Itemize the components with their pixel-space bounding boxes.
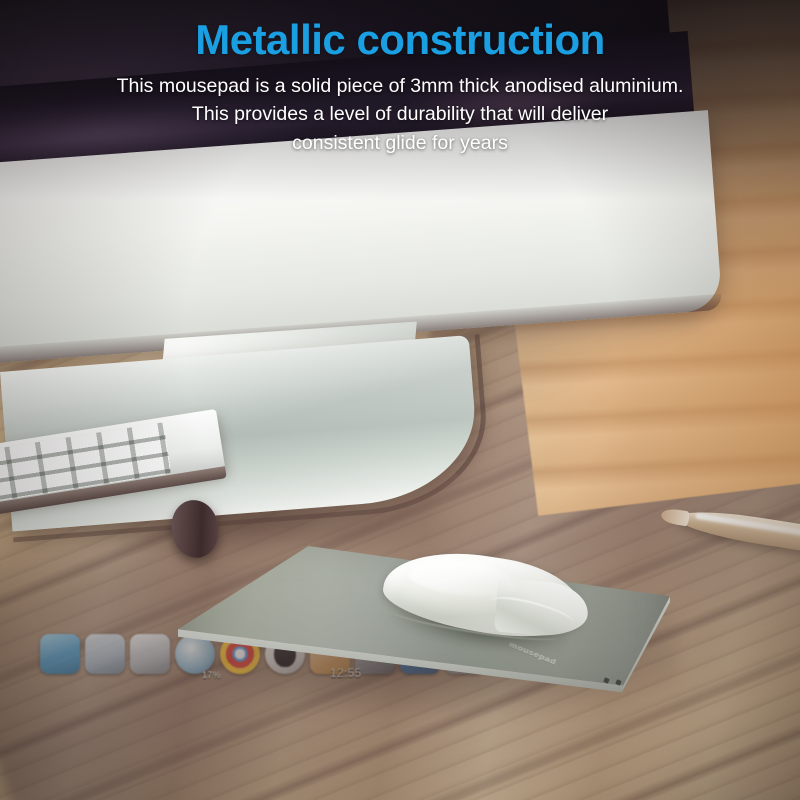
product-marketing-image: 17% 12:55 mousepad — [0, 0, 800, 800]
finder-icon — [40, 634, 80, 674]
notes-icon — [85, 634, 125, 674]
photos-icon — [130, 634, 170, 674]
